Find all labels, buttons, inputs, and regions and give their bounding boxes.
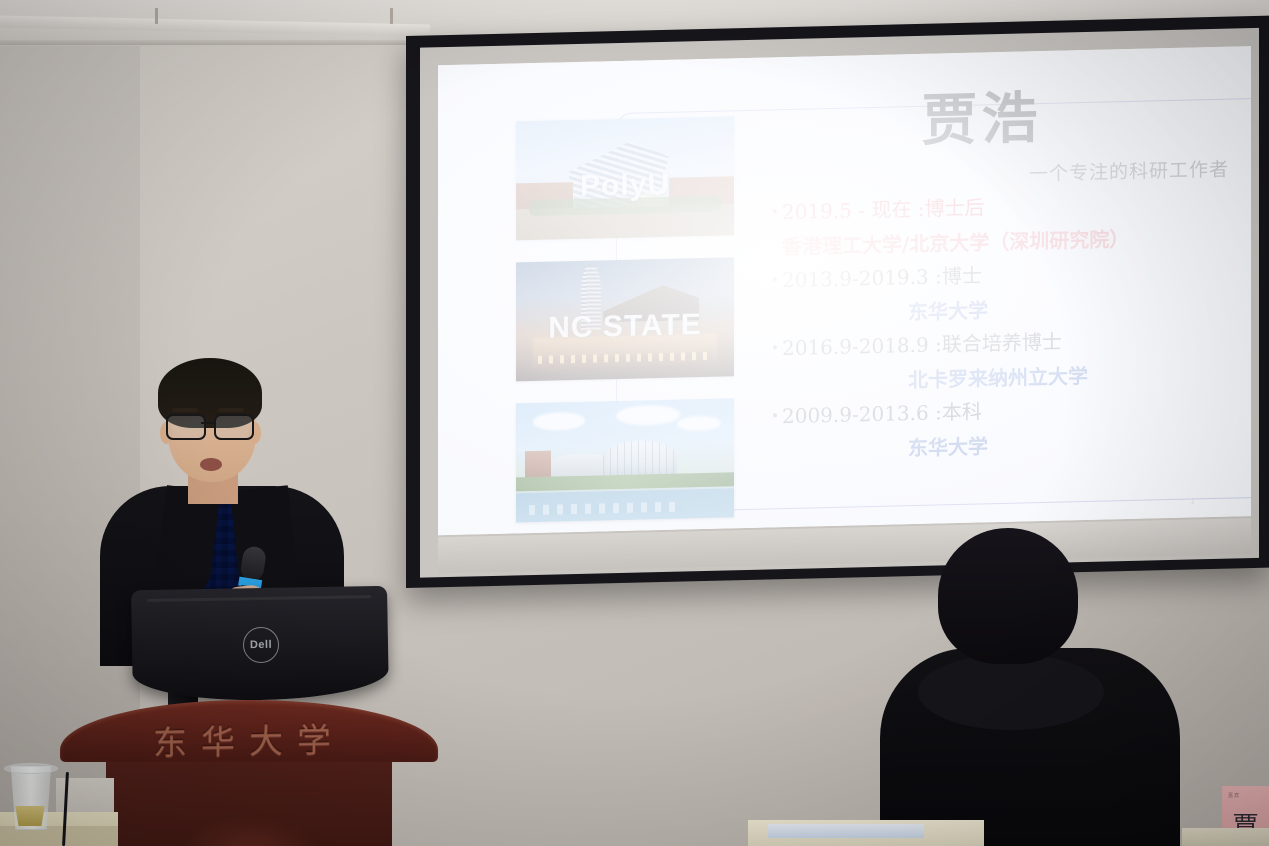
podium-header-panel: 东华大学: [60, 700, 438, 762]
bullet-institution: 北卡罗来纳州立大学: [908, 360, 1088, 393]
bullet-period: 2013.9-2019.3: [782, 265, 929, 292]
photo-polyu: PolyU: [516, 116, 734, 240]
bullet-separator: :: [935, 264, 942, 288]
monitor-seam: [147, 595, 371, 602]
bullet-dot: •: [768, 267, 782, 293]
cloud: [616, 404, 680, 426]
campus-building-left: [525, 450, 551, 479]
bullet-role: 联合培养博士: [942, 330, 1062, 357]
bullet-separator: :: [935, 400, 942, 424]
photo-ncstate: NC STATE: [516, 257, 734, 381]
slide-page-number: 1: [1191, 496, 1195, 505]
audience-head: [938, 528, 1078, 664]
speaker-brow-left: [172, 408, 198, 412]
bullet-period-role: 2016.9-2018.9 :联合培养博士: [782, 328, 1088, 361]
bullet-role: 博士: [942, 263, 982, 288]
slide-title: 贾浩: [728, 86, 1235, 154]
presentation-slide: PolyU NC STATE: [438, 46, 1251, 535]
glasses-lens-right: [214, 414, 254, 440]
campus-dome-ribs: [603, 440, 677, 477]
bullet-period: 2009.9-2013.6: [782, 401, 929, 428]
audience-member: [880, 528, 1180, 846]
bullet-dot: •: [768, 199, 782, 225]
placard-subtitle: 嘉宾: [1228, 792, 1240, 799]
bullet-period-role: 2013.9-2019.3 :博士: [782, 262, 988, 293]
bullet-period-role: 2009.9-2013.6 :本科: [782, 398, 988, 429]
bullet-institution: 东华大学: [908, 430, 988, 461]
bullet-institution: 香港理工大学/北京大学（深圳研究院）: [782, 223, 1129, 260]
dell-monitor: Dell: [131, 586, 389, 702]
cup-tea: [14, 806, 46, 826]
audience-hood: [918, 654, 1104, 730]
photo-donghua: [516, 398, 734, 522]
bullet-item: • 2013.9-2019.3 :博士 东华大学: [768, 256, 1235, 328]
screen-surface: PolyU NC STATE: [438, 46, 1251, 535]
slide-bullet-list: • 2019.5 - 现在 :博士后 香港理工大学/北京大学（深圳研究院）: [768, 188, 1235, 464]
glasses-bridge: [201, 422, 215, 424]
bullet-role: 博士后: [925, 195, 985, 220]
cloud: [677, 415, 721, 431]
bullet-role: 本科: [942, 399, 982, 424]
bullet-separator: :: [935, 332, 942, 356]
bullet-period: 2016.9-2018.9: [782, 333, 929, 360]
ceiling-hook: [155, 8, 158, 24]
projection-screen: PolyU NC STATE: [406, 16, 1269, 588]
bullet-item: • 2016.9-2018.9 :联合培养博士 北卡罗来纳州立大学: [768, 324, 1235, 396]
glasses-icon: [166, 414, 206, 440]
cloud: [533, 411, 585, 430]
front-table-right: [1182, 828, 1269, 846]
bullet-period: 2019.5 - 现在: [782, 197, 911, 224]
speaker-mouth: [200, 458, 222, 471]
lecture-photo-scene: VK PolyU: [0, 0, 1269, 846]
photo-caption: NC STATE: [516, 307, 734, 346]
bullet-institution: 东华大学: [908, 294, 988, 325]
dell-logo: Dell: [243, 627, 280, 664]
bullet-dot: •: [768, 403, 782, 429]
slide-text-column: 贾浩 一个专注的科研工作者 • 2019.5 - 现在 :博士后: [768, 86, 1235, 464]
bullet-item: • 2019.5 - 现在 :博士后 香港理工大学/北京大学（深圳研究院）: [768, 188, 1235, 260]
papers-stack: [768, 824, 924, 838]
slide-subtitle: 一个专注的科研工作者: [768, 154, 1235, 192]
bullet-period-role: 2019.5 - 现在 :博士后: [782, 191, 1129, 225]
screen-inner-border: PolyU NC STATE: [420, 28, 1259, 578]
photo-caption: PolyU: [516, 166, 734, 205]
cup-rim: [4, 763, 58, 774]
podium-engraved-text: 东华大学: [60, 711, 438, 767]
slide-photo-column: PolyU NC STATE: [516, 116, 734, 535]
speaker-brow-right: [218, 408, 244, 412]
bullet-item: • 2009.9-2013.6 :本科 东华大学: [768, 392, 1235, 464]
ceiling-hook: [390, 8, 393, 24]
bullet-dot: •: [768, 335, 782, 361]
bullet-separator: :: [918, 197, 925, 221]
